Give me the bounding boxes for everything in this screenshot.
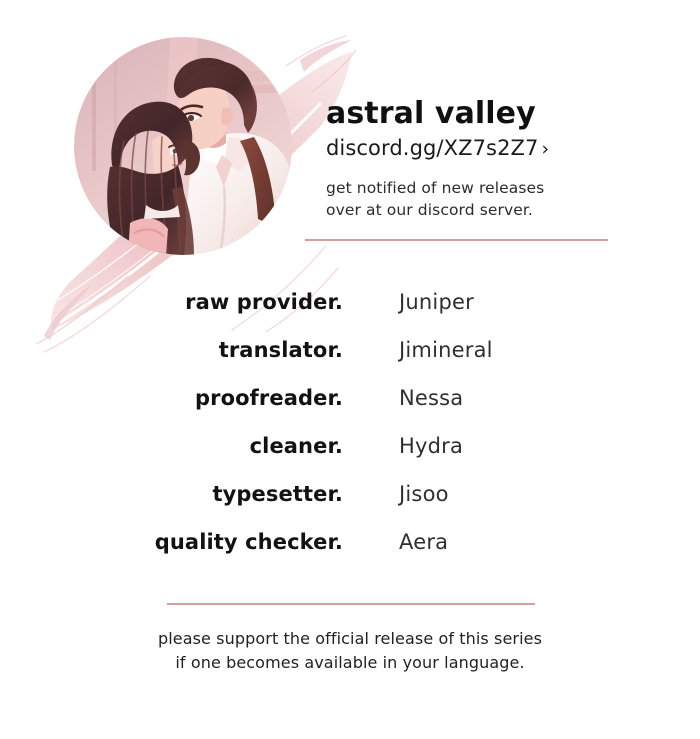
credit-role: typesetter.: [212, 482, 343, 506]
credit-row: cleaner. Hydra: [0, 434, 700, 482]
credits-list: raw provider. Juniper translator. Jimine…: [0, 290, 700, 578]
avatar: two characters facing each other, girl w…: [74, 37, 292, 255]
support-notice: please support the official release of t…: [0, 627, 700, 674]
header-block: astral valley discord.gg/XZ7s2Z7› get no…: [326, 96, 666, 221]
credit-row: raw provider. Juniper: [0, 290, 700, 338]
credit-role: translator.: [219, 338, 343, 362]
credit-name: Hydra: [399, 434, 463, 458]
credit-name: Nessa: [399, 386, 463, 410]
credit-name: Juniper: [399, 290, 474, 314]
credit-role: raw provider.: [185, 290, 343, 314]
credit-row: proofreader. Nessa: [0, 386, 700, 434]
discord-invite-link[interactable]: discord.gg/XZ7s2Z7›: [326, 136, 666, 160]
chevron-right-icon: ›: [539, 138, 550, 160]
discord-invite-url: discord.gg/XZ7s2Z7: [326, 136, 539, 160]
page-title: astral valley: [326, 96, 666, 131]
credit-row: quality checker. Aera: [0, 530, 700, 578]
credit-name: Jisoo: [399, 482, 449, 506]
credit-row: translator. Jimineral: [0, 338, 700, 386]
credit-name: Aera: [399, 530, 448, 554]
discord-note: get notified of new releases over at our…: [326, 177, 666, 221]
discord-note-line-2: over at our discord server.: [326, 199, 666, 221]
credit-row: typesetter. Jisoo: [0, 482, 700, 530]
discord-note-line-1: get notified of new releases: [326, 177, 666, 199]
credit-role: quality checker.: [155, 530, 343, 554]
credit-role: proofreader.: [195, 386, 343, 410]
support-notice-line-1: please support the official release of t…: [0, 627, 700, 651]
support-notice-line-2: if one becomes available in your languag…: [0, 651, 700, 675]
divider-top: [305, 239, 608, 241]
credit-name: Jimineral: [399, 338, 493, 362]
credits-page: two characters facing each other, girl w…: [0, 0, 700, 739]
credit-role: cleaner.: [250, 434, 343, 458]
divider-bottom: [167, 603, 535, 605]
